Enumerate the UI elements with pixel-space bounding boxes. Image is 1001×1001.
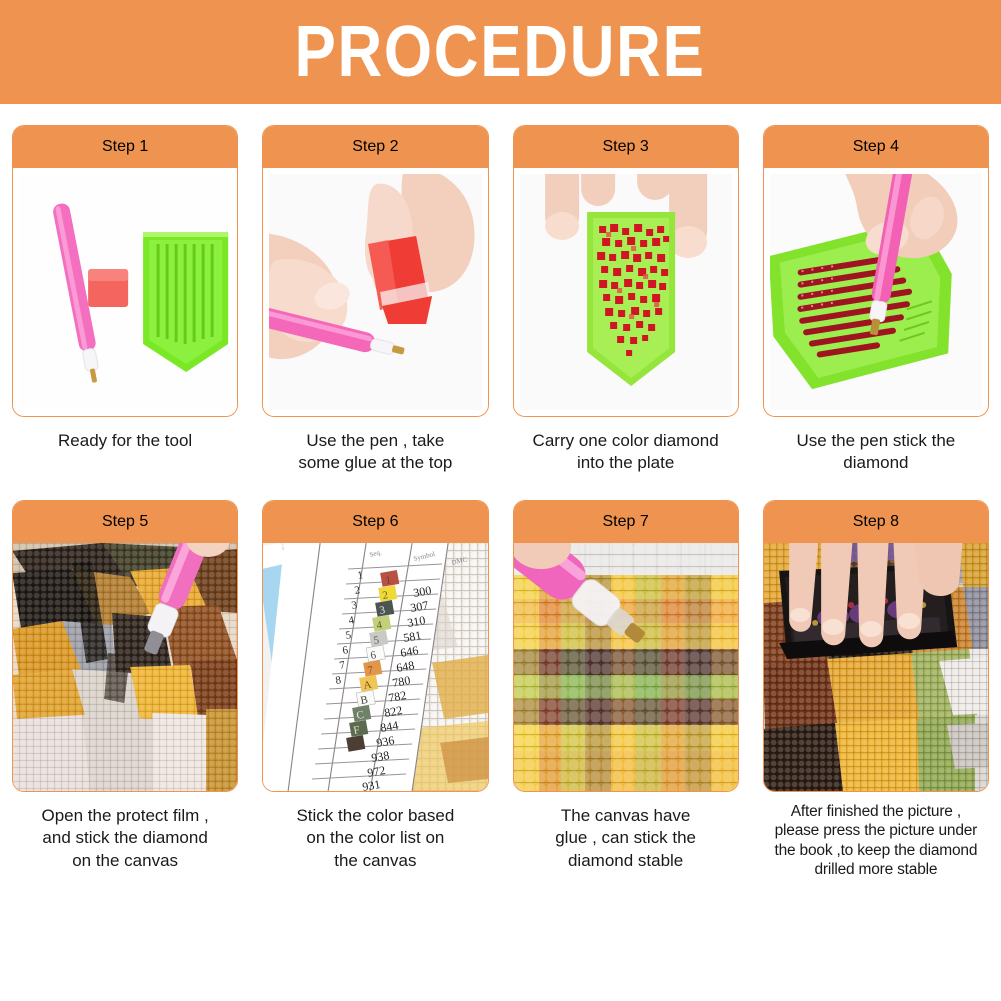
page-title: PROCEDURE — [295, 16, 706, 88]
step-header-6: Step 6 — [263, 501, 487, 543]
step-card-2[interactable]: Step 2 — [262, 125, 488, 417]
step-image-8 — [764, 543, 988, 791]
step-image-7 — [514, 543, 738, 791]
page-banner: PROCEDURE — [0, 0, 1001, 104]
sticking-diamond-canvas-photo — [13, 543, 237, 791]
step-header-label-4: Step 4 — [853, 138, 899, 156]
step-header-5: Step 5 — [13, 501, 237, 543]
step-card-5[interactable]: Step 5 — [12, 500, 238, 792]
procedure-infographic: PROCEDURE Step 1 — [0, 0, 1001, 1001]
step-header-2: Step 2 — [263, 126, 487, 168]
step-cell-1: Step 1 — [0, 125, 250, 475]
step-image-6: Seq. Symbol DMC — [263, 543, 487, 791]
step-card-6[interactable]: Step 6 — [262, 500, 488, 792]
step-header-label-3: Step 3 — [602, 138, 648, 156]
step-cell-3: Step 3 — [501, 125, 751, 475]
tool-kit-photo — [19, 174, 231, 410]
step-caption-7: The canvas have glue , can stick the dia… — [513, 805, 739, 872]
step-cell-4: Step 4 — [751, 125, 1001, 475]
step-caption-6: Stick the color based on the color list … — [262, 805, 488, 872]
step-header-label-8: Step 8 — [853, 513, 899, 531]
step-card-3[interactable]: Step 3 — [513, 125, 739, 417]
steps-row-1: Step 1 — [0, 125, 1001, 475]
pen-picking-diamond-photo — [770, 174, 982, 410]
step-cell-8: Step 8 — [751, 500, 1001, 880]
pen-taking-glue-photo — [269, 174, 481, 410]
step-card-1[interactable]: Step 1 — [12, 125, 238, 417]
steps-row-2: Step 5 — [0, 500, 1001, 880]
step-header-label-7: Step 7 — [602, 513, 648, 531]
step-caption-3: Carry one color diamond into the plate — [513, 430, 739, 475]
step-header-1: Step 1 — [13, 126, 237, 168]
step-header-label-6: Step 6 — [352, 513, 398, 531]
step-card-4[interactable]: Step 4 — [763, 125, 989, 417]
step-caption-5: Open the protect film , and stick the di… — [12, 805, 238, 872]
diamonds-in-tray-photo — [520, 174, 732, 410]
step-image-1 — [13, 168, 237, 416]
step-header-label-2: Step 2 — [352, 138, 398, 156]
color-chart-photo: Seq. Symbol DMC — [263, 543, 487, 791]
step-caption-8: After finished the picture , please pres… — [763, 802, 989, 880]
step-caption-4: Use the pen stick the diamond — [763, 430, 989, 475]
step-cell-6: Step 6 — [250, 500, 500, 880]
step-caption-1: Ready for the tool — [12, 430, 238, 452]
step-header-4: Step 4 — [764, 126, 988, 168]
step-card-8[interactable]: Step 8 — [763, 500, 989, 792]
step-cell-2: Step 2 — [250, 125, 500, 475]
step-cell-5: Step 5 — [0, 500, 250, 880]
step-header-3: Step 3 — [514, 126, 738, 168]
step-header-7: Step 7 — [514, 501, 738, 543]
pressing-with-book-photo — [764, 543, 988, 791]
step-header-label-5: Step 5 — [102, 513, 148, 531]
step-cell-7: Step 7 — [501, 500, 751, 880]
steps-grid: Step 1 — [0, 104, 1001, 879]
step-image-5 — [13, 543, 237, 791]
step-image-4 — [764, 168, 988, 416]
step-header-label-1: Step 1 — [102, 138, 148, 156]
step-card-7[interactable]: Step 7 — [513, 500, 739, 792]
step-header-8: Step 8 — [764, 501, 988, 543]
step-caption-2: Use the pen , take some glue at the top — [262, 430, 488, 475]
step-image-3 — [514, 168, 738, 416]
glue-canvas-photo — [514, 543, 738, 791]
svg-text:931: 931 — [361, 777, 381, 791]
step-image-2 — [263, 168, 487, 416]
